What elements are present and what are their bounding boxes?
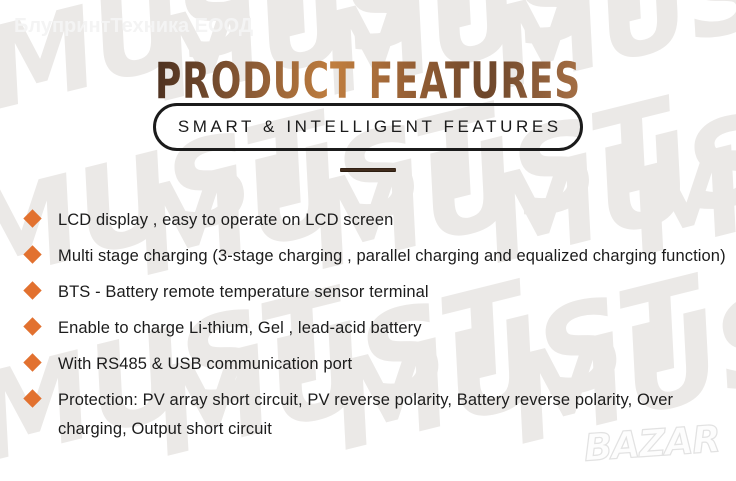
diamond-bullet-icon (23, 353, 41, 371)
list-item: LCD display , easy to operate on LCD scr… (26, 206, 726, 235)
divider-container (0, 168, 736, 172)
list-item: With RS485 & USB communication port (26, 350, 726, 379)
list-item: Enable to charge Li-thium, Gel , lead-ac… (26, 314, 726, 343)
list-item-label: Protection: PV array short circuit, PV r… (58, 386, 726, 444)
feature-list: LCD display , easy to operate on LCD scr… (26, 206, 726, 451)
list-item-label: Multi stage charging (3-stage charging ,… (58, 242, 726, 271)
subtitle-pill: SMART & INTELLIGENT FEATURES (153, 103, 583, 151)
list-item-label: With RS485 & USB communication port (58, 350, 726, 379)
shop-watermark: БлупринтТехника ЕООД (14, 15, 253, 38)
diamond-bullet-icon (23, 281, 41, 299)
list-item: BTS - Battery remote temperature sensor … (26, 278, 726, 307)
page-title: PRODUCT FEATURES (74, 56, 663, 106)
diamond-bullet-icon (23, 317, 41, 335)
list-item: Protection: PV array short circuit, PV r… (26, 386, 726, 444)
subtitle-text: SMART & INTELLIGENT FEATURES (174, 117, 561, 137)
diamond-bullet-icon (23, 209, 41, 227)
list-item: Multi stage charging (3-stage charging ,… (26, 242, 726, 271)
diamond-bullet-icon (23, 389, 41, 407)
list-item-label: LCD display , easy to operate on LCD scr… (58, 206, 726, 235)
list-item-label: Enable to charge Li-thium, Gel , lead-ac… (58, 314, 726, 343)
product-features-page: MUST MUST MUST MUST MUST MUST MUST MUST … (0, 0, 736, 481)
list-item-label: BTS - Battery remote temperature sensor … (58, 278, 726, 307)
subtitle-container: SMART & INTELLIGENT FEATURES (0, 103, 736, 151)
section-divider (340, 168, 396, 172)
diamond-bullet-icon (23, 245, 41, 263)
